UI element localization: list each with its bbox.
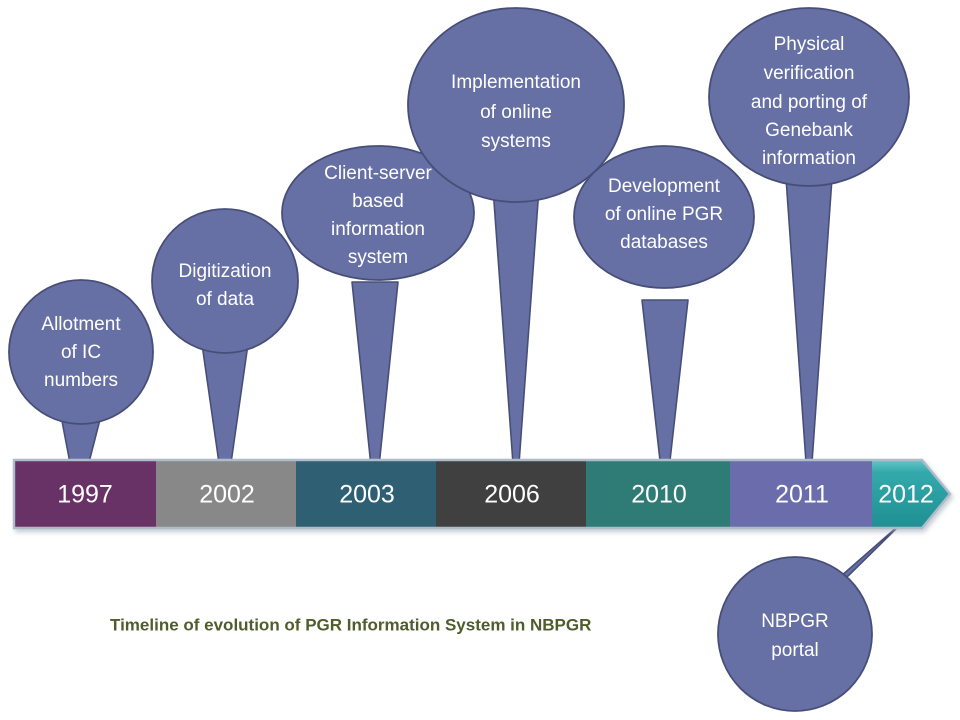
callout-1997-line-2: of IC bbox=[61, 342, 101, 363]
callout-2003-line-2: based bbox=[352, 191, 404, 212]
year-label-2002: 2002 bbox=[199, 481, 255, 509]
callout-2011-line-2: verification bbox=[764, 63, 855, 84]
callout-2011-line-3: and porting of bbox=[751, 92, 868, 113]
tail-2011 bbox=[786, 178, 832, 505]
callout-2006-line-3: systems bbox=[481, 131, 551, 152]
callout-2010-line-1: Development bbox=[608, 176, 721, 197]
callout-2006-line-1: Implementation bbox=[451, 72, 581, 93]
year-label-2011: 2011 bbox=[775, 481, 829, 509]
callout-2006[interactable]: Implementation of online systems bbox=[408, 8, 624, 202]
callout-2011-line-1: Physical bbox=[774, 34, 845, 55]
year-label-2012: 2012 bbox=[878, 481, 934, 509]
callout-2012[interactable]: NBPGR portal bbox=[718, 557, 872, 711]
callout-2003-line-3: information bbox=[331, 219, 425, 240]
year-label-1997: 1997 bbox=[57, 481, 113, 509]
callout-2003-line-4: system bbox=[348, 247, 408, 268]
figure-caption: Timeline of evolution of PGR Information… bbox=[110, 615, 591, 634]
callout-2010-line-3: databases bbox=[620, 232, 708, 253]
callout-2003-line-1: Client-server bbox=[324, 163, 432, 184]
timeline-figure: 1997 2002 2003 2006 2010 2011 2012 Allot… bbox=[0, 0, 960, 720]
callout-2012-bubble[interactable] bbox=[718, 557, 872, 711]
callout-2010-line-2: of online PGR bbox=[605, 204, 723, 225]
callout-1997[interactable]: Allotment of IC numbers bbox=[9, 280, 153, 424]
callout-1997-line-1: Allotment bbox=[41, 314, 121, 335]
timeline-diagram: 1997 2002 2003 2006 2010 2011 2012 Allot… bbox=[0, 0, 960, 720]
callout-2011-line-5: information bbox=[762, 148, 856, 169]
callout-2010[interactable]: Development of online PGR databases bbox=[574, 146, 754, 288]
tail-2006 bbox=[493, 188, 539, 505]
year-label-2003: 2003 bbox=[339, 481, 395, 509]
year-label-2010: 2010 bbox=[631, 481, 687, 509]
callout-2006-line-2: of online bbox=[480, 102, 552, 123]
year-label-2006: 2006 bbox=[484, 481, 540, 509]
callout-2011[interactable]: Physical verification and porting of Gen… bbox=[709, 8, 909, 186]
callout-2002-line-1: Digitization bbox=[179, 261, 272, 282]
callout-2002-line-2: of data bbox=[196, 289, 255, 310]
callout-2011-line-4: Genebank bbox=[765, 120, 853, 141]
callout-2012-line-2: portal bbox=[771, 640, 819, 661]
callout-1997-line-3: numbers bbox=[44, 370, 118, 391]
callout-2002[interactable]: Digitization of data bbox=[152, 209, 298, 353]
callout-2012-line-1: NBPGR bbox=[761, 611, 829, 632]
